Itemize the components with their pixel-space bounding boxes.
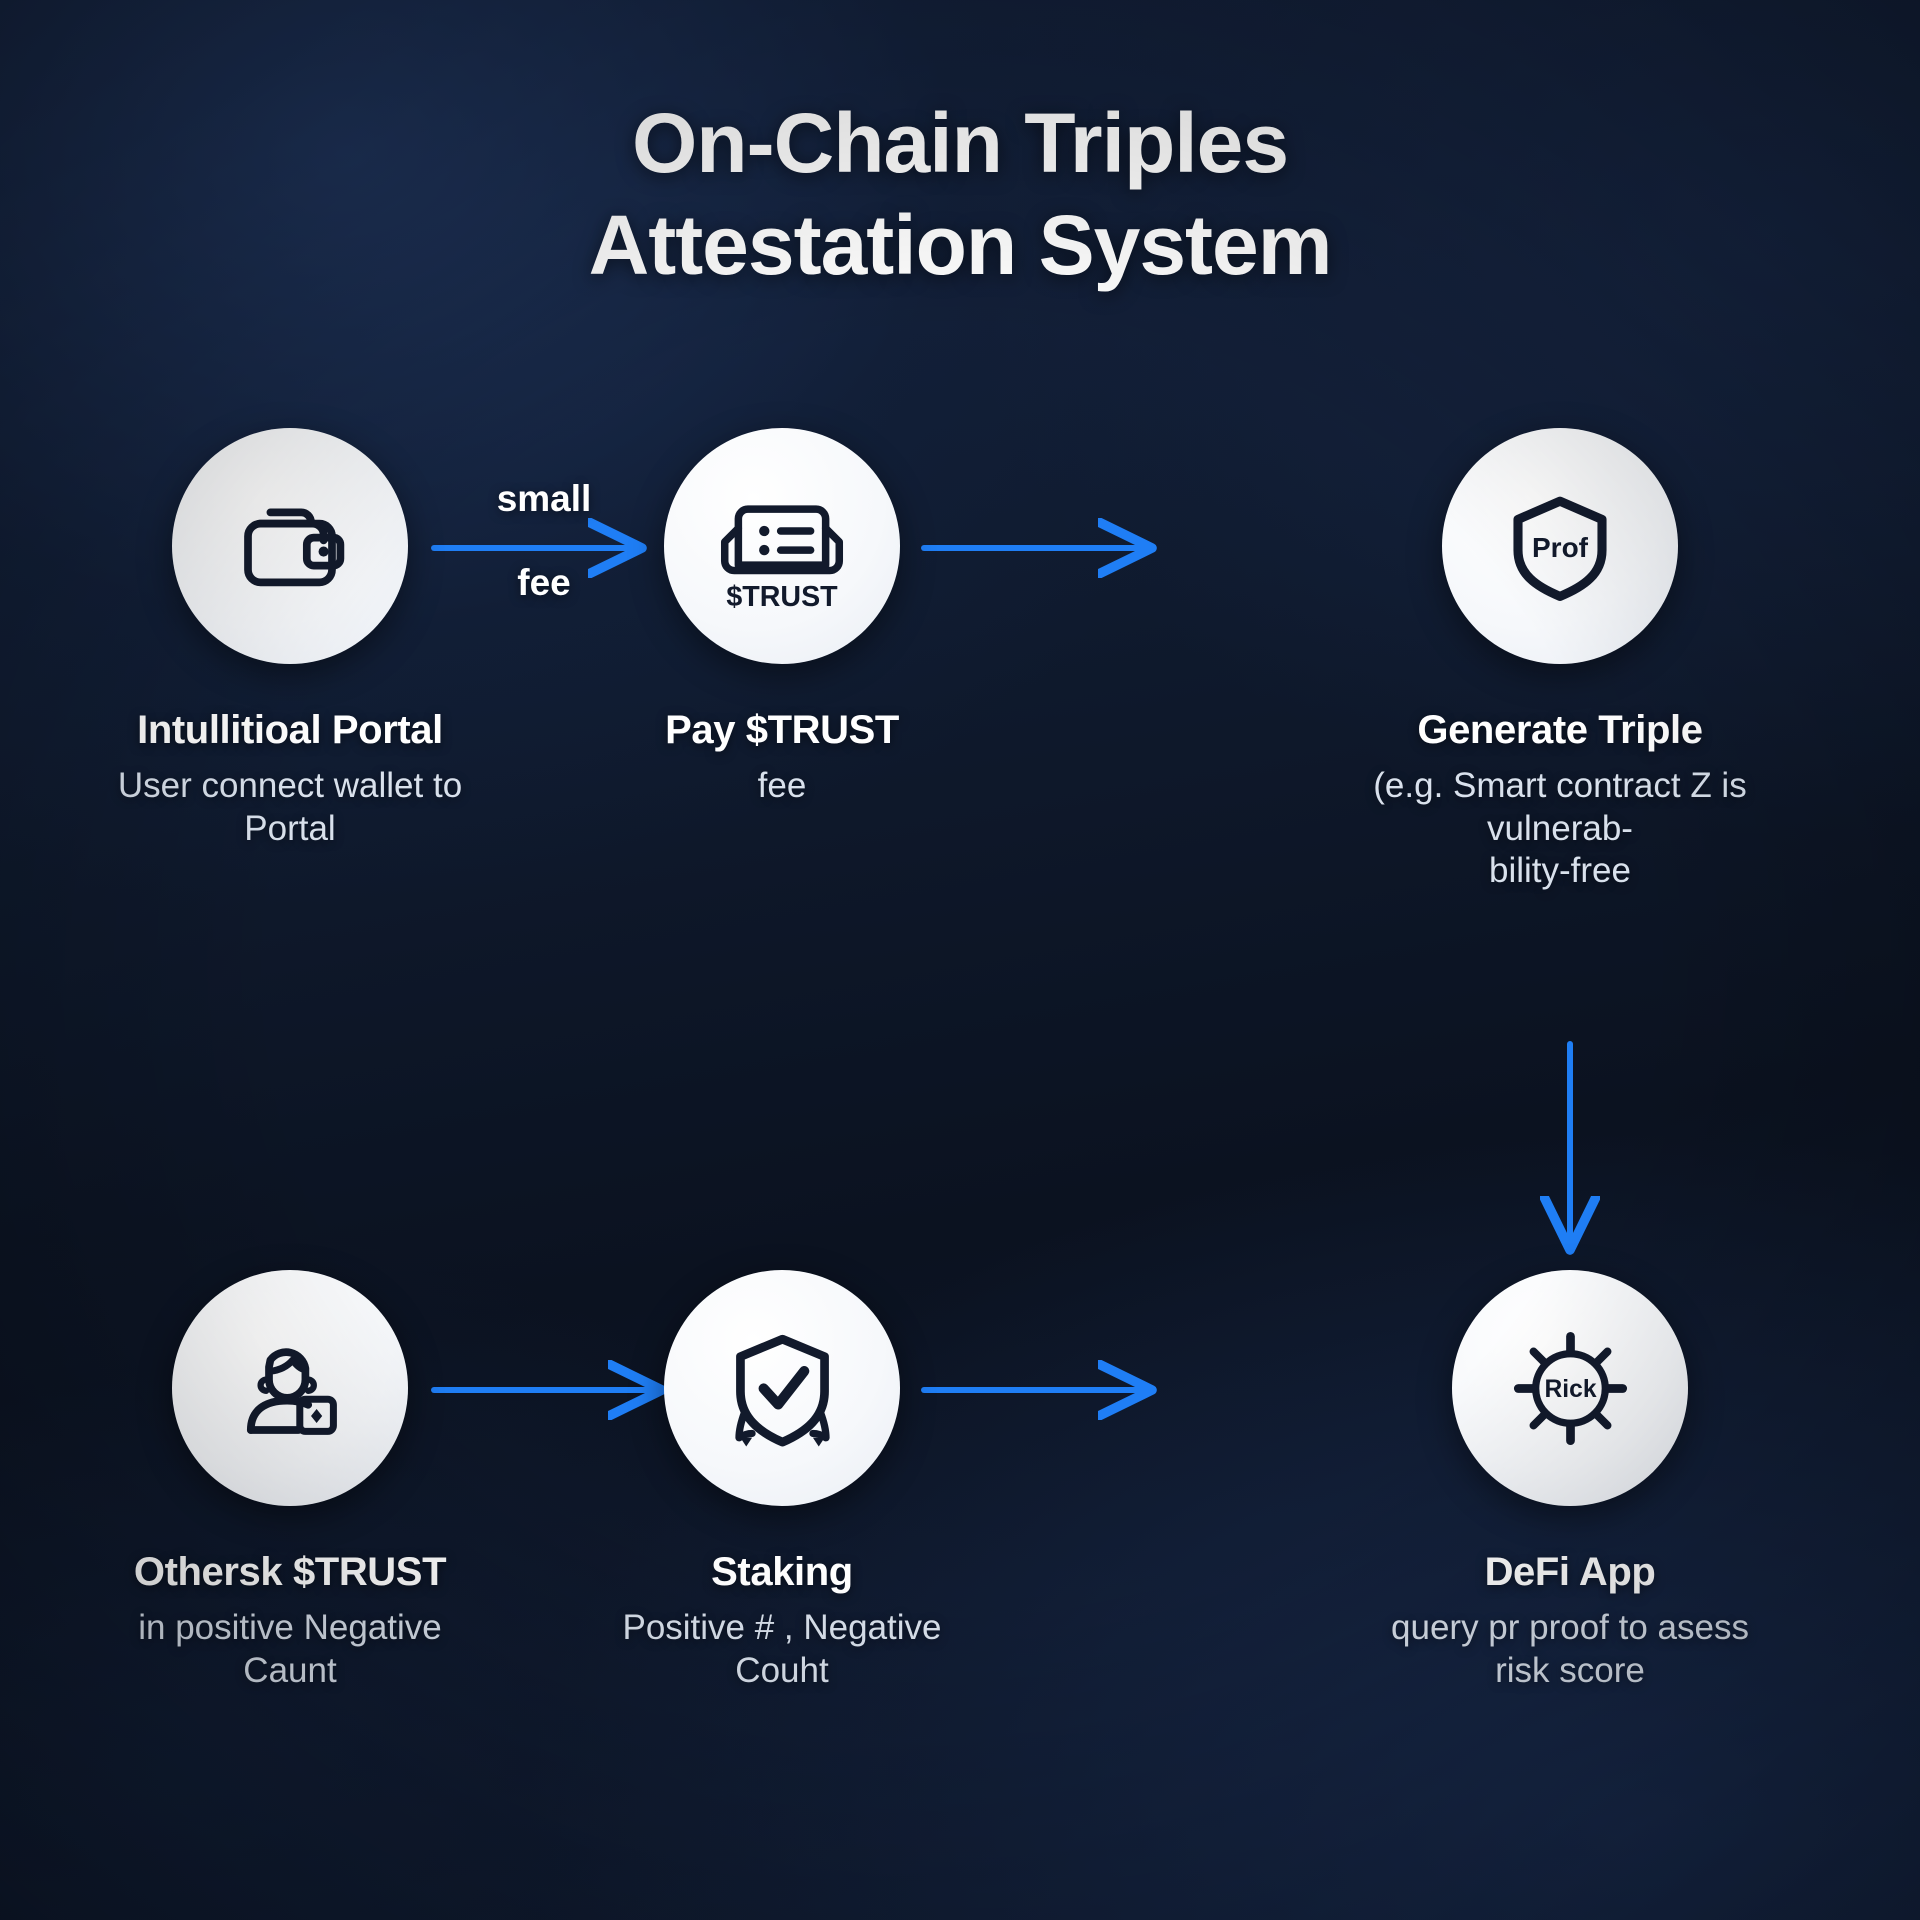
node-circle (172, 1270, 408, 1506)
shield-proof-icon: Prof (1490, 476, 1630, 616)
node-circle: $TRUST (664, 428, 900, 664)
person-badge-icon (220, 1318, 360, 1458)
page-title: On-Chain Triples Attestation System (0, 92, 1920, 297)
node-others-stake[interactable]: Othersk $TRUST in positive Negative Caun… (80, 1270, 500, 1692)
node-title: Generate Triple (1330, 708, 1790, 753)
wallet-icon (220, 476, 360, 616)
diagram-canvas: On-Chain Triples Attestation System (0, 0, 1920, 1920)
node-subtitle-line: query pr proof to asess (1360, 1607, 1780, 1650)
node-title: DeFi App (1360, 1550, 1780, 1595)
node-circle: Prof (1442, 428, 1678, 664)
node-subtitle-line: Portal (80, 808, 500, 851)
node-subtitle: (e.g. Smart contract Z is vulnerab- bili… (1330, 765, 1790, 893)
node-subtitle-line: bility-free (1330, 850, 1790, 893)
node-subtitle-line: User connect wallet to (80, 765, 500, 808)
node-staking[interactable]: Staking Positive # , Negative Couht (572, 1270, 992, 1692)
node-defi-app[interactable]: Rick DeFi App query pr proof to asess ri… (1360, 1270, 1780, 1692)
node-subtitle: Positive # , Negative Couht (572, 1607, 992, 1692)
arrow-generate-to-defi (1540, 1040, 1600, 1270)
icon-word-prof: Prof (1532, 532, 1589, 563)
node-generate-triple[interactable]: Prof Generate Triple (e.g. Smart contrac… (1330, 428, 1790, 893)
node-subtitle: query pr proof to asess risk score (1360, 1607, 1780, 1692)
node-subtitle-line: risk score (1360, 1650, 1780, 1693)
icon-word-rick: Rick (1544, 1376, 1596, 1403)
shield-check-icon (710, 1316, 855, 1461)
node-title: Intullitioal Portal (80, 708, 500, 753)
node-subtitle: in positive Negative Caunt (80, 1607, 500, 1692)
document-list-icon: $TRUST (707, 471, 857, 621)
node-circle: Rick (1452, 1270, 1688, 1506)
node-circle (664, 1270, 900, 1506)
node-intuition-portal[interactable]: Intullitioal Portal User connect wallet … (80, 428, 500, 850)
node-title: Pay $TRUST (572, 708, 992, 753)
node-subtitle-line: fee (572, 765, 992, 808)
node-subtitle-line: Caunt (80, 1650, 500, 1693)
node-subtitle-line: in positive Negative (80, 1607, 500, 1650)
title-line-2: Attestation System (0, 194, 1920, 296)
risk-gauge-icon: Rick (1498, 1316, 1643, 1461)
node-subtitle-line: Positive # , Negative (572, 1607, 992, 1650)
node-circle (172, 428, 408, 664)
node-pay-trust[interactable]: $TRUST Pay $TRUST fee (572, 428, 992, 808)
node-subtitle-line: (e.g. Smart contract Z is vulnerab- (1330, 765, 1790, 850)
icon-word-trust: $TRUST (726, 581, 838, 613)
node-title: Staking (572, 1550, 992, 1595)
node-subtitle-line: Couht (572, 1650, 992, 1693)
title-line-1: On-Chain Triples (632, 96, 1288, 190)
node-title: Othersk $TRUST (80, 1550, 500, 1595)
node-subtitle: fee (572, 765, 992, 808)
node-subtitle: User connect wallet to Portal (80, 765, 500, 850)
